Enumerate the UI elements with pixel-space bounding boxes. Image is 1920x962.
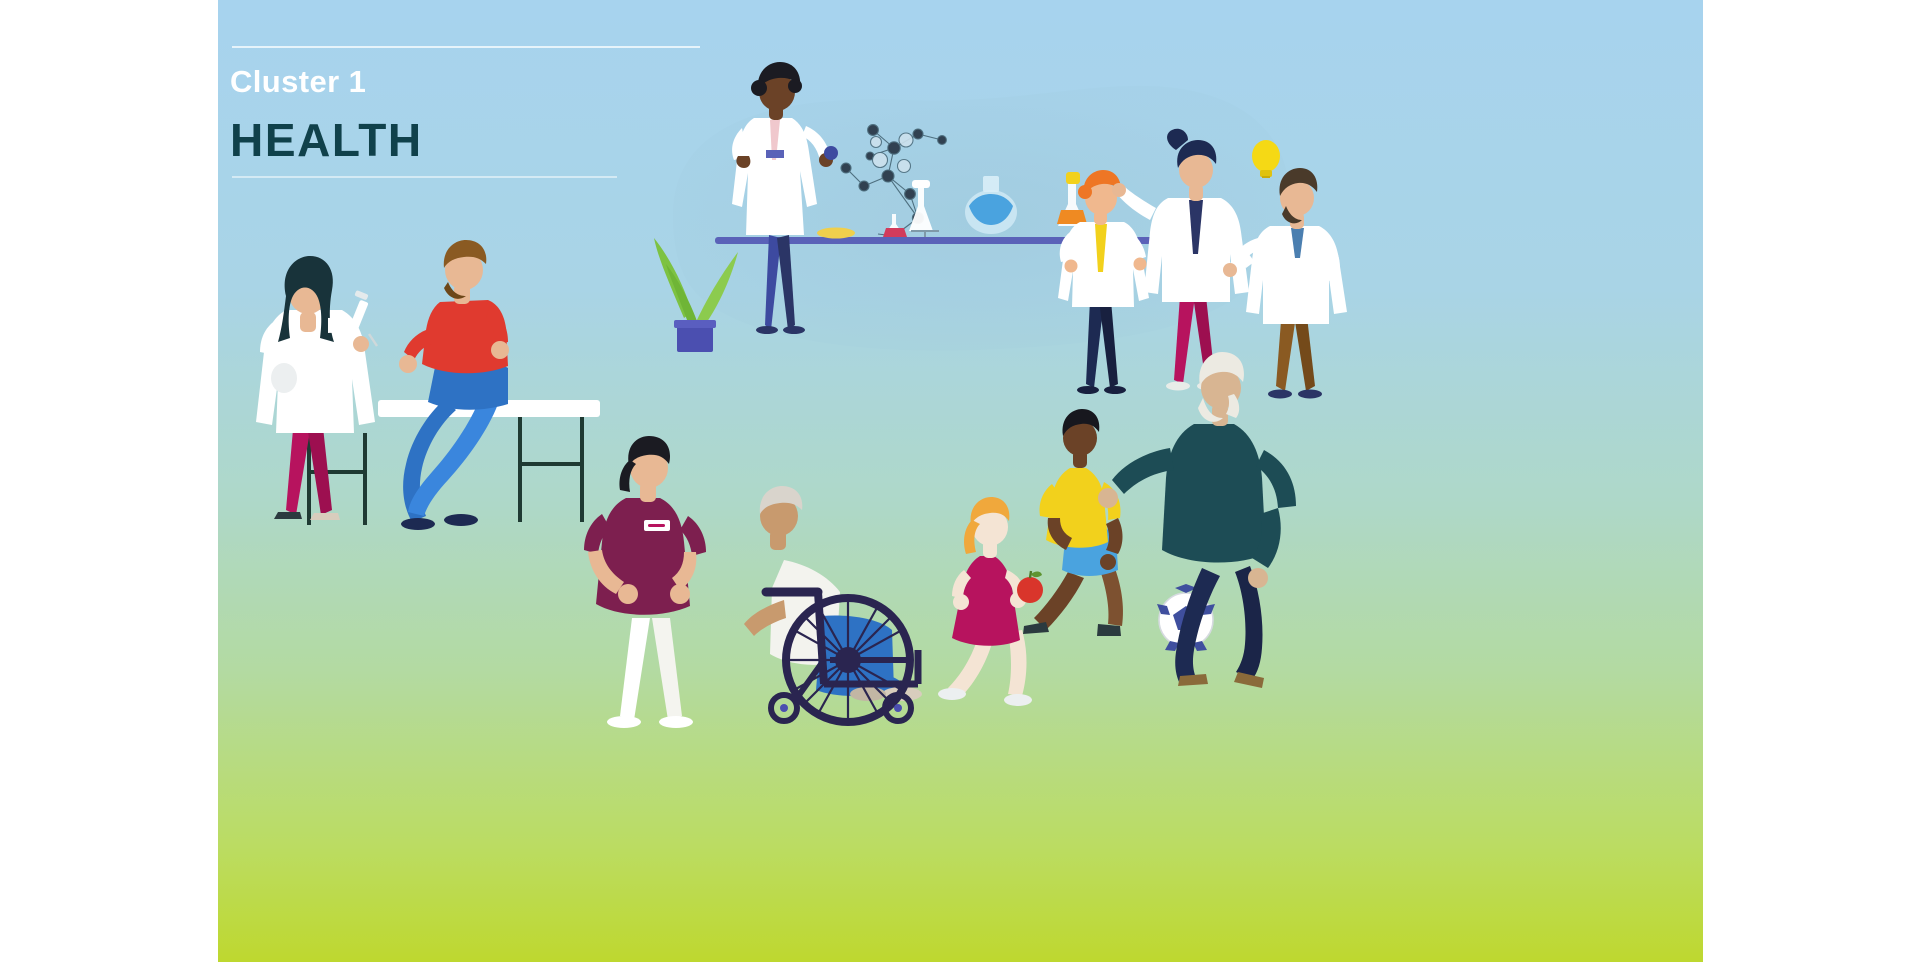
seated-patient — [399, 240, 509, 530]
activity-scene — [938, 352, 1296, 706]
health-cluster-panel: Cluster 1 HEALTH — [218, 0, 1703, 962]
doctor-with-syringe — [256, 256, 377, 520]
header-rule-top — [232, 46, 700, 48]
page-title: HEALTH — [230, 113, 423, 167]
apple — [1017, 571, 1043, 603]
vaccination-scene — [256, 240, 600, 530]
screenshot-root: Cluster 1 HEALTH — [0, 0, 1920, 962]
wheelchair-scene — [584, 436, 922, 728]
cluster-eyebrow: Cluster 1 — [230, 64, 366, 100]
header-rule-bottom — [232, 176, 617, 178]
boy-playing-football — [1023, 409, 1123, 636]
nurse — [584, 436, 706, 728]
health-illustration — [218, 0, 1703, 962]
girl-with-apple — [938, 497, 1043, 706]
